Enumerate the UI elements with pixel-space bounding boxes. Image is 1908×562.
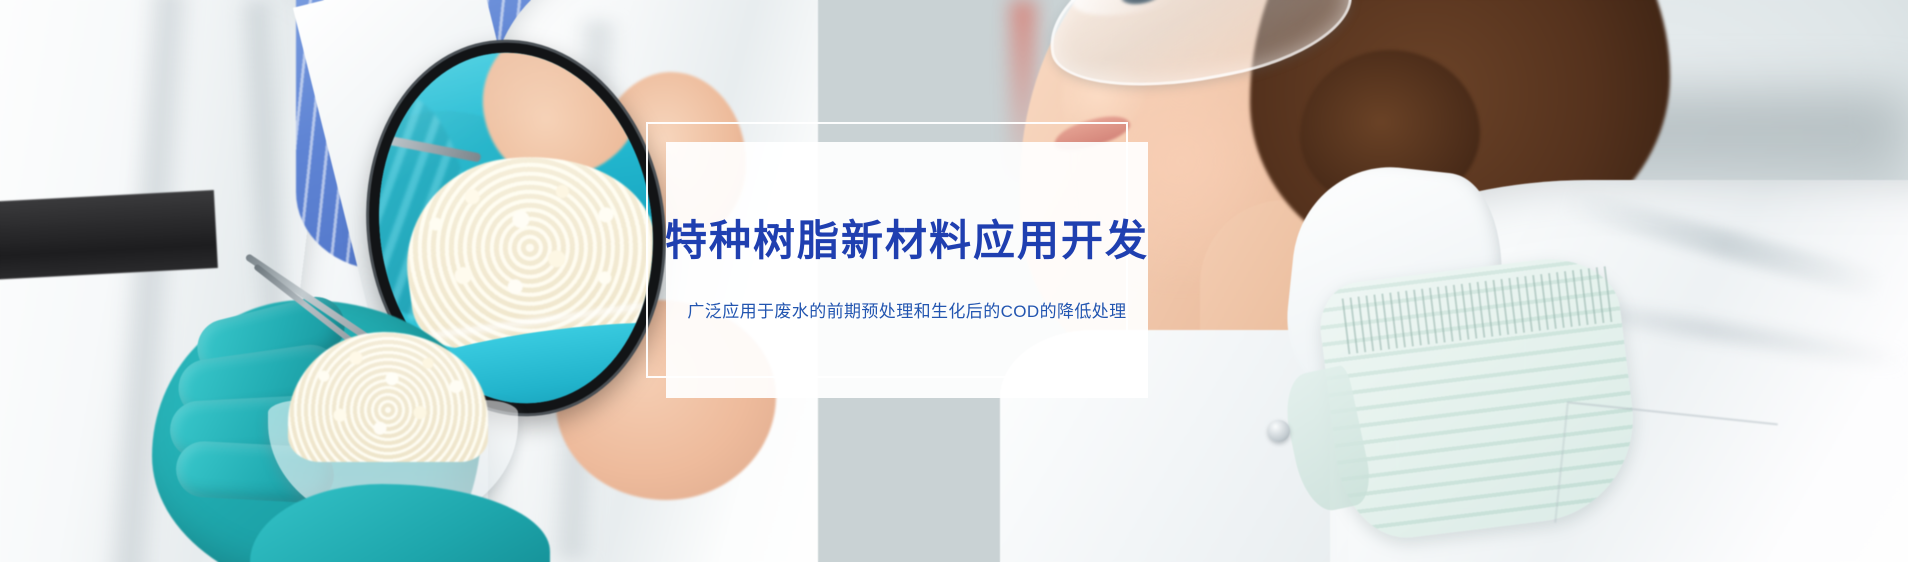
dark-equipment-block <box>0 190 218 280</box>
lab-coat-pocket <box>1554 401 1778 544</box>
hero-banner: 特种树脂新材料应用开发 广泛应用于废水的前期预处理和生化后的COD的降低处理 <box>0 0 1908 562</box>
banner-text-panel: 特种树脂新材料应用开发 广泛应用于废水的前期预处理和生化后的COD的降低处理 <box>666 142 1148 398</box>
banner-title: 特种树脂新材料应用开发 <box>665 216 1149 266</box>
lab-coat-button <box>1268 420 1290 442</box>
banner-subtitle: 广泛应用于废水的前期预处理和生化后的COD的降低处理 <box>687 300 1126 324</box>
